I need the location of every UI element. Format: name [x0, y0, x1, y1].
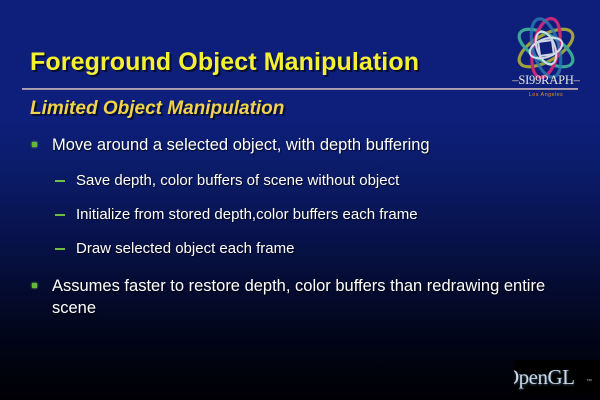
- opengl-wordmark: OpenGL: [514, 365, 574, 390]
- slide-subtitle: Limited Object Manipulation: [30, 98, 284, 120]
- list-item: Move around a selected object, with dept…: [0, 134, 600, 156]
- opengl-logo: OpenGL ™: [514, 360, 600, 394]
- siggraph-wordmark: –SI99RAPH–: [498, 73, 594, 88]
- spacer: [0, 194, 600, 204]
- list-item: Save depth, color buffers of scene witho…: [0, 170, 600, 191]
- wordmark-dash-right: –: [574, 73, 580, 87]
- list-item-text: Initialize from stored depth,color buffe…: [76, 204, 600, 225]
- bullet-list: Move around a selected object, with dept…: [0, 134, 600, 323]
- list-item: Draw selected object each frame: [0, 238, 600, 259]
- title-divider: [22, 88, 578, 90]
- spacer: [0, 262, 600, 275]
- list-item-text: Draw selected object each frame: [76, 238, 600, 259]
- slide-canvas: Foreground Object Manipulation Limited O…: [0, 0, 600, 400]
- bullet-dot-icon: [32, 283, 37, 288]
- spacer: [0, 160, 600, 170]
- page-title: Foreground Object Manipulation: [30, 48, 419, 77]
- wordmark-text: SI99RAPH: [518, 73, 573, 87]
- list-item-text: Save depth, color buffers of scene witho…: [76, 170, 600, 191]
- bullet-dash-icon: [55, 214, 65, 216]
- list-item: Initialize from stored depth,color buffe…: [0, 204, 600, 225]
- siggraph-logo: –SI99RAPH– Los Angeles: [498, 8, 594, 104]
- bullet-dash-icon: [55, 248, 65, 250]
- bullet-dot-icon: [32, 142, 37, 147]
- siggraph-rings-icon: [498, 8, 594, 104]
- opengl-trademark-icon: ™: [586, 379, 592, 385]
- siggraph-city: Los Angeles: [498, 92, 594, 98]
- list-item-text: Assumes faster to restore depth, color b…: [52, 275, 600, 319]
- list-item-text: Move around a selected object, with dept…: [52, 134, 600, 156]
- bullet-dash-icon: [55, 180, 65, 182]
- spacer: [0, 228, 600, 238]
- list-item: Assumes faster to restore depth, color b…: [0, 275, 600, 319]
